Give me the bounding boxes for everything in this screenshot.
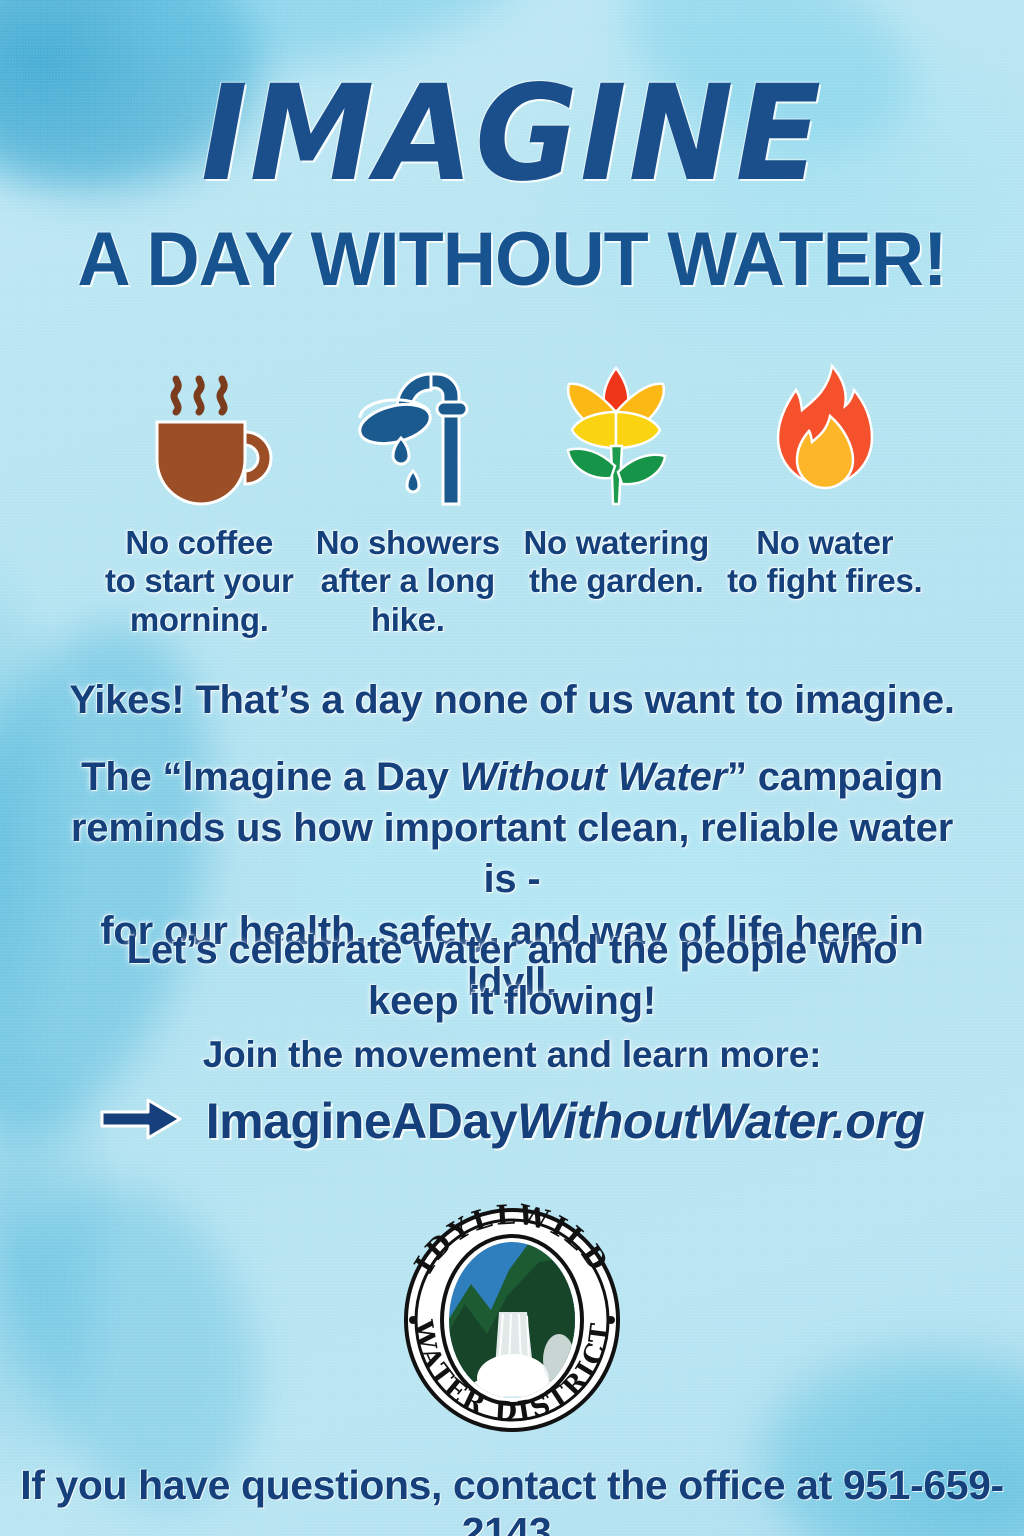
icon-caption-coffee: No coffee to start your morning. <box>105 524 294 639</box>
icon-cell-shower: No showers after a long hike. <box>304 360 513 639</box>
right-arrow-icon <box>100 1096 184 1147</box>
celebrate-line-1: Let’s celebrate water and the people who <box>50 925 974 976</box>
campaign-line-2: reminds us how important clean, reliable… <box>50 803 974 905</box>
fire-icon <box>750 360 900 510</box>
poster-content: IMAGINE A DAY WITHOUT WATER! <box>0 0 1024 1536</box>
url-callout[interactable]: ImagineADayWithoutWater.org <box>0 1092 1024 1150</box>
campaign-line-1: The “lmagine a Day Without Water” campai… <box>50 752 974 803</box>
shower-head-icon <box>333 360 483 510</box>
icon-cell-fire: No water to fight fires. <box>721 360 930 601</box>
paragraph-join: Join the movement and learn more: <box>50 1032 974 1077</box>
campaign-url[interactable]: ImagineADayWithoutWater.org <box>206 1092 925 1150</box>
icon-caption-flower: No watering the garden. <box>523 524 709 601</box>
campaign-text-italic: Without Water <box>460 755 727 799</box>
poster-title-imagine: IMAGINE <box>26 68 999 200</box>
campaign-text-post: ” campaign <box>727 755 943 799</box>
icon-cell-flower: No watering the garden. <box>512 360 721 601</box>
celebrate-line-2: keep it flowing! <box>50 976 974 1027</box>
url-prefix: ImagineADay <box>206 1093 517 1149</box>
poster-canvas: IMAGINE A DAY WITHOUT WATER! <box>0 0 1024 1536</box>
icon-caption-fire: No water to fight fires. <box>727 524 922 601</box>
paragraph-celebrate: Let’s celebrate water and the people who… <box>50 925 974 1027</box>
poster-title-subline: A DAY WITHOUT WATER! <box>15 222 1008 298</box>
idyllwild-water-district-seal: IDYLLWILD WATER DISTRICT <box>387 1192 637 1444</box>
flower-icon <box>541 360 691 510</box>
paragraph-yikes: Yikes! That’s a day none of us want to i… <box>50 676 974 725</box>
icon-row: No coffee to start your morning. <box>95 360 929 639</box>
coffee-cup-icon <box>124 360 274 510</box>
icon-caption-shower: No showers after a long hike. <box>316 524 500 639</box>
campaign-text-pre: The “lmagine a Day <box>81 755 460 799</box>
url-italic-part: WithoutWater.org <box>517 1093 924 1149</box>
icon-cell-coffee: No coffee to start your morning. <box>95 360 304 639</box>
footer-contact: If you have questions, contact the offic… <box>0 1462 1024 1536</box>
